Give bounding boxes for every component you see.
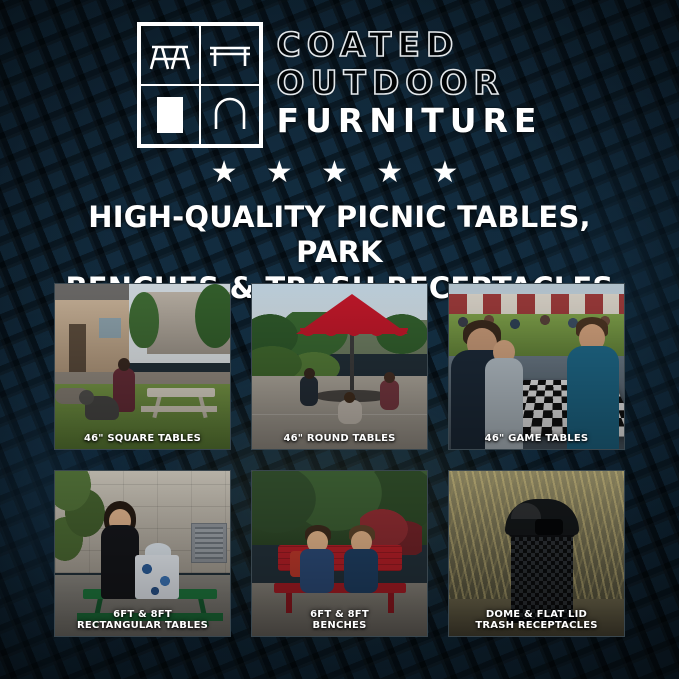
product-caption: 46" ROUND TABLES xyxy=(252,433,427,444)
product-tile-trash-receptacles[interactable]: DOME & FLAT LID TRASH RECEPTACLES xyxy=(448,470,625,637)
product-tile-round-tables[interactable]: 46" ROUND TABLES xyxy=(251,283,428,450)
poster-content: COATED OUTDOOR FURNITURE ★ ★ ★ ★ ★ HIGH-… xyxy=(0,0,679,679)
star-rating: ★ ★ ★ ★ ★ xyxy=(0,158,679,188)
product-caption: 46" SQUARE TABLES xyxy=(55,433,230,444)
bench-icon xyxy=(200,25,260,85)
product-tile-square-tables[interactable]: 46" SQUARE TABLES xyxy=(54,283,231,450)
product-grid: 46" SQUARE TABLES xyxy=(54,283,625,637)
product-poster: COATED OUTDOOR FURNITURE ★ ★ ★ ★ ★ HIGH-… xyxy=(0,0,679,679)
product-tile-game-tables[interactable]: 46" GAME TABLES xyxy=(448,283,625,450)
product-caption: 6FT & 8FT BENCHES xyxy=(252,609,427,631)
product-tile-rectangular-tables[interactable]: 6FT & 8FT RECTANGULAR TABLES xyxy=(54,470,231,637)
arch-bench-icon xyxy=(200,85,260,145)
product-caption: 46" GAME TABLES xyxy=(449,433,624,444)
logo-word-furniture: FURNITURE xyxy=(277,104,543,137)
logo-wordmark: COATED OUTDOOR FURNITURE xyxy=(277,22,543,137)
headline-line-1: HIGH-QUALITY PICNIC TABLES, PARK xyxy=(88,200,591,269)
product-caption: DOME & FLAT LID TRASH RECEPTACLES xyxy=(449,609,624,631)
trash-receptacle-icon xyxy=(140,85,200,145)
logo-word-outdoor: OUTDOOR xyxy=(277,66,543,99)
brand-logo: COATED OUTDOOR FURNITURE xyxy=(0,22,679,148)
logo-mark xyxy=(137,22,263,148)
picnic-table-icon xyxy=(140,25,200,85)
logo-word-coated: COATED xyxy=(277,28,543,61)
product-caption: 6FT & 8FT RECTANGULAR TABLES xyxy=(55,609,230,631)
product-tile-benches[interactable]: 6FT & 8FT BENCHES xyxy=(251,470,428,637)
